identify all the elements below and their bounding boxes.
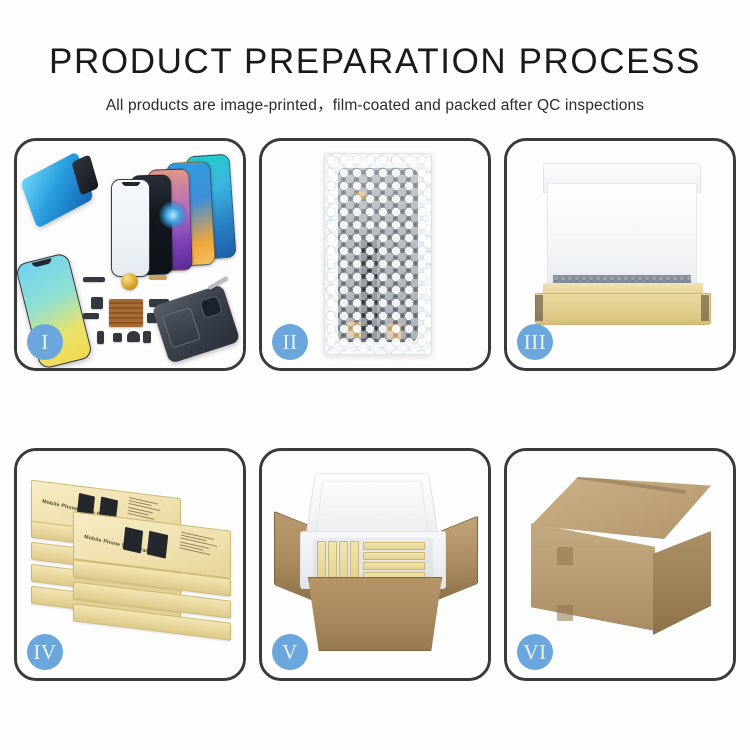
- small-part-icon: [127, 331, 140, 342]
- product-preparation-infographic: PRODUCT PREPARATION PROCESS All products…: [0, 0, 750, 750]
- step-badge-4: IV: [27, 634, 63, 670]
- step-2-illustration: II: [262, 141, 488, 368]
- process-step-panel-4: Mobile Phone Spare Parts Mobile Phone Sp…: [14, 448, 246, 681]
- packed-box-icon: [328, 541, 337, 581]
- process-step-panel-5: V: [259, 448, 491, 681]
- process-step-panel-2: II: [259, 138, 491, 371]
- box-label-text: Mobile Phone Spare Parts: [84, 534, 153, 555]
- sealed-carton-icon: [521, 477, 721, 649]
- step-5-illustration: V: [262, 451, 488, 678]
- carton-front-panel-icon: [308, 577, 442, 651]
- flex-cable-icon: [149, 275, 167, 280]
- small-part-icon: [143, 331, 151, 343]
- foam-cavity-icon: [313, 538, 433, 580]
- step-1-illustration: I: [17, 141, 243, 368]
- open-kraft-box-icon: [529, 163, 715, 331]
- small-part-icon: [113, 333, 122, 342]
- battery-icon: [162, 307, 201, 349]
- process-step-grid: I II: [14, 138, 736, 681]
- step-badge-1: I: [27, 324, 63, 360]
- phone-screen-fan-icon: [103, 153, 243, 273]
- box-tab-right-icon: [701, 295, 709, 321]
- small-part-icon: [91, 297, 103, 309]
- step-4-illustration: Mobile Phone Spare Parts Mobile Phone Sp…: [17, 451, 243, 678]
- small-part-icon: [83, 313, 99, 319]
- step-3-illustration: III: [507, 141, 733, 368]
- box-spec-lines-icon: [179, 532, 221, 560]
- step-badge-5: V: [272, 634, 308, 670]
- step-6-illustration: VI: [507, 451, 733, 678]
- page-title: PRODUCT PREPARATION PROCESS: [0, 42, 750, 82]
- box-inner-wall-icon: [547, 183, 697, 283]
- packed-box-icon: [350, 541, 359, 581]
- packed-box-icon: [363, 562, 425, 570]
- process-step-panel-6: VI: [504, 448, 736, 681]
- phone-backplate-icon: [152, 284, 241, 364]
- small-part-icon: [83, 277, 105, 282]
- carton-tape-icon: [557, 547, 573, 565]
- packed-box-icon: [317, 541, 326, 581]
- screen-burst-graphic-icon: [159, 201, 187, 229]
- camera-module-icon: [199, 295, 223, 319]
- carton-left-face-icon: [531, 523, 655, 631]
- process-step-panel-1: I: [14, 138, 246, 371]
- step-badge-3: III: [517, 324, 553, 360]
- bubble-texture-icon: [325, 154, 431, 354]
- carton-tape-icon: [557, 605, 573, 621]
- carton-right-face-icon: [653, 531, 711, 635]
- packed-box-icon: [363, 542, 425, 550]
- header: PRODUCT PREPARATION PROCESS All products…: [0, 0, 750, 115]
- notch-icon: [32, 258, 53, 268]
- box-thumbnail-icon: [123, 527, 143, 554]
- page-subtitle: All products are image-printed，film-coat…: [0, 93, 750, 115]
- packed-box-icon: [339, 541, 348, 581]
- notch-icon: [122, 182, 140, 186]
- process-step-panel-3: III: [504, 138, 736, 371]
- box-stack-icon: Mobile Phone Spare Parts Mobile Phone Sp…: [27, 469, 235, 655]
- small-part-icon: [97, 331, 104, 344]
- bubble-wrap-bag-icon: [324, 153, 432, 355]
- box-front-panel-icon: [535, 293, 711, 325]
- tilted-blue-screen-icon: [20, 151, 94, 228]
- box-thumbnail-icon: [147, 531, 168, 559]
- tempered-glass-icon: [111, 179, 150, 277]
- step-badge-2: II: [272, 324, 308, 360]
- chip-grid-icon: [109, 299, 143, 327]
- step-badge-6: VI: [517, 634, 553, 670]
- packed-box-icon: [363, 552, 425, 560]
- box-tab-left-icon: [535, 295, 543, 321]
- open-carton-icon: [274, 465, 478, 659]
- speaker-coil-icon: [121, 273, 138, 290]
